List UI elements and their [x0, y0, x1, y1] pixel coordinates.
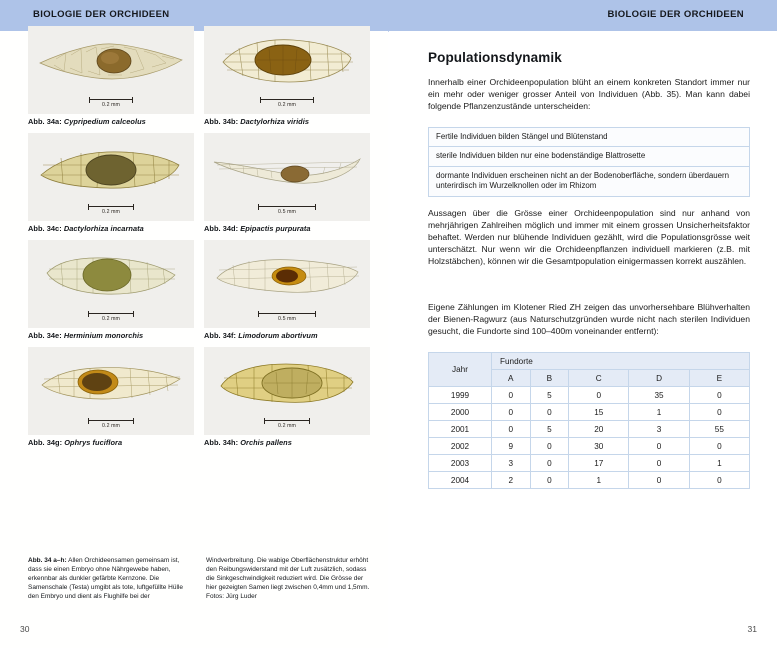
population-counts-table: Jahr Fundorte A B C D E 1999 0 5 0 35 0 …	[428, 352, 750, 489]
figure-species: Ophrys fuciflora	[64, 438, 122, 447]
seed-photo-34d: 0.5 mm	[204, 133, 370, 221]
column-header-jahr: Jahr	[429, 353, 492, 387]
figure-grid: 0.2 mm Abb. 34a: Cypripedium calceolus	[28, 26, 370, 454]
cell-year: 2002	[429, 438, 492, 455]
cell-year: 2001	[429, 421, 492, 438]
figure-caption-34f: Abb. 34f: Limodorum abortivum	[204, 331, 370, 340]
figure-label: Abb. 34c:	[28, 224, 62, 233]
figure-caption-34e: Abb. 34e: Herminium monorchis	[28, 331, 194, 340]
page-number-right: 31	[748, 624, 757, 634]
cell-value: 0	[492, 387, 531, 404]
seed-photo-34e: 0.2 mm	[28, 240, 194, 328]
running-header-left: BIOLOGIE DER ORCHIDEEN	[33, 9, 170, 20]
page-number-left: 30	[20, 624, 29, 634]
figure-label: Abb. 34d:	[204, 224, 238, 233]
right-page	[389, 31, 777, 648]
cell-value: 1	[689, 455, 749, 472]
seed-illustration	[37, 141, 185, 195]
figure-item-34a: 0.2 mm Abb. 34a: Cypripedium calceolus	[28, 26, 194, 126]
state-row-fertile: Fertile Individuen bilden Stängel und Bl…	[429, 128, 750, 147]
figure-species: Herminium monorchis	[64, 331, 143, 340]
figure-label: Abb. 34a:	[28, 117, 62, 126]
seed-photo-34h: 0.2 mm	[204, 347, 370, 435]
table-row: 2003 3 0 17 0 1	[429, 455, 750, 472]
table-row: 1999 0 5 0 35 0	[429, 387, 750, 404]
figure-caption-34b: Abb. 34b: Dactylorhiza viridis	[204, 117, 370, 126]
scale-bar-34d: 0.5 mm	[258, 204, 316, 216]
figure-item-34e: 0.2 mm Abb. 34e: Herminium monorchis	[28, 240, 194, 340]
seed-illustration	[217, 32, 357, 90]
cell-value: 0	[629, 455, 689, 472]
cell-value: 20	[569, 421, 629, 438]
cell-value: 0	[689, 472, 749, 489]
cell-value: 0	[530, 472, 569, 489]
intro-paragraph: Innerhalb einer Orchideenpopulation blüh…	[428, 76, 750, 112]
cell-value: 0	[492, 404, 531, 421]
cell-value: 1	[569, 472, 629, 489]
cell-value: 0	[569, 387, 629, 404]
seed-illustration	[38, 357, 184, 407]
cell-value: 0	[689, 404, 749, 421]
seed-illustration	[211, 143, 363, 193]
cell-value: 0	[689, 438, 749, 455]
figure-item-34h: 0.2 mm Abb. 34h: Orchis pallens	[204, 347, 370, 447]
column-header-e: E	[689, 370, 749, 387]
table-row: Fertile Individuen bilden Stängel und Bl…	[429, 128, 750, 147]
cell-year: 2000	[429, 404, 492, 421]
figure-item-34d: 0.5 mm Abb. 34d: Epipactis purpurata	[204, 133, 370, 233]
scale-bar-34c: 0.2 mm	[88, 204, 134, 216]
column-header-a: A	[492, 370, 531, 387]
seed-illustration	[216, 356, 358, 408]
cell-value: 0	[629, 438, 689, 455]
cell-value: 0	[689, 387, 749, 404]
figure-label: Abb. 34f:	[204, 331, 236, 340]
figure-group-caption-col1: Abb. 34 a–h: Allen Orchideensamen gemein…	[28, 556, 194, 601]
column-header-d: D	[629, 370, 689, 387]
running-header-right: BIOLOGIE DER ORCHIDEEN	[608, 9, 745, 20]
scale-bar-34f: 0.5 mm	[258, 311, 316, 323]
table-row: 2000 0 0 15 1 0	[429, 404, 750, 421]
table-row: 2002 9 0 30 0 0	[429, 438, 750, 455]
cell-year: 1999	[429, 387, 492, 404]
scale-bar-34h: 0.2 mm	[264, 418, 310, 430]
cell-value: 5	[530, 421, 569, 438]
seed-illustration	[36, 35, 186, 87]
figure-item-34b: 0.2 mm Abb. 34b: Dactylorhiza viridis	[204, 26, 370, 126]
cell-value: 0	[530, 438, 569, 455]
column-header-fundorte: Fundorte	[492, 353, 750, 370]
cell-year: 2003	[429, 455, 492, 472]
table-header-row-1: Jahr Fundorte	[429, 353, 750, 370]
table-row: sterile Individuen bilden nur eine boden…	[429, 147, 750, 166]
figure-caption-34c: Abb. 34c: Dactylorhiza incarnata	[28, 224, 194, 233]
figure-label: Abb. 34h:	[204, 438, 238, 447]
section-title: Populationsdynamik	[428, 50, 562, 65]
scale-bar-34a: 0.2 mm	[89, 97, 133, 109]
cell-value: 3	[629, 421, 689, 438]
cell-value: 35	[629, 387, 689, 404]
figure-caption-34d: Abb. 34d: Epipactis purpurata	[204, 224, 370, 233]
seed-photo-34b: 0.2 mm	[204, 26, 370, 114]
figure-caption-34g: Abb. 34g: Ophrys fuciflora	[28, 438, 194, 447]
figure-item-34c: 0.2 mm Abb. 34c: Dactylorhiza incarnata	[28, 133, 194, 233]
figure-species: Epipactis purpurata	[240, 224, 310, 233]
figure-species: Limodorum abortivum	[238, 331, 317, 340]
table-row: 2001 0 5 20 3 55	[429, 421, 750, 438]
cell-value: 9	[492, 438, 531, 455]
figure-caption-34a: Abb. 34a: Cypripedium calceolus	[28, 117, 194, 126]
column-header-c: C	[569, 370, 629, 387]
body-paragraph: Aussagen über die Grösse einer Orchideen…	[428, 207, 750, 267]
figure-species: Dactylorhiza incarnata	[64, 224, 144, 233]
plant-states-table: Fertile Individuen bilden Stängel und Bl…	[428, 127, 750, 197]
figure-caption-34h: Abb. 34h: Orchis pallens	[204, 438, 370, 447]
scale-bar-34b: 0.2 mm	[260, 97, 314, 109]
figure-label: Abb. 34g:	[28, 438, 62, 447]
figure-group-caption-col2: Windverbreitung. Die wabige Oberflächens…	[206, 556, 372, 601]
table-row: dormante Individuen erscheinen nicht an …	[429, 166, 750, 196]
seed-illustration	[213, 252, 361, 298]
table-row: 2004 2 0 1 0 0	[429, 472, 750, 489]
cell-value: 17	[569, 455, 629, 472]
cell-year: 2004	[429, 472, 492, 489]
cell-value: 30	[569, 438, 629, 455]
cell-value: 3	[492, 455, 531, 472]
cell-value: 0	[530, 455, 569, 472]
body-paragraph-2: Eigene Zählungen im Klotener Ried ZH zei…	[428, 301, 750, 337]
figure-label: Abb. 34e:	[28, 331, 62, 340]
cell-value: 0	[492, 421, 531, 438]
cell-value: 2	[492, 472, 531, 489]
scale-bar-34e: 0.2 mm	[88, 311, 134, 323]
cell-value: 15	[569, 404, 629, 421]
figure-item-34f: 0.5 mm Abb. 34f: Limodorum abortivum	[204, 240, 370, 340]
seed-photo-34f: 0.5 mm	[204, 240, 370, 328]
figure-species: Orchis pallens	[240, 438, 292, 447]
scale-bar-34g: 0.2 mm	[88, 418, 134, 430]
figure-group-caption-lead: Abb. 34 a–h:	[28, 557, 67, 564]
seed-photo-34c: 0.2 mm	[28, 133, 194, 221]
column-header-b: B	[530, 370, 569, 387]
seed-illustration	[41, 249, 181, 301]
figure-label: Abb. 34b:	[204, 117, 238, 126]
state-row-sterile: sterile Individuen bilden nur eine boden…	[429, 147, 750, 166]
seed-photo-34g: 0.2 mm	[28, 347, 194, 435]
figure-species: Dactylorhiza viridis	[240, 117, 309, 126]
figure-species: Cypripedium calceolus	[64, 117, 146, 126]
cell-value: 5	[530, 387, 569, 404]
cell-value: 1	[629, 404, 689, 421]
figure-group-caption: Abb. 34 a–h: Allen Orchideensamen gemein…	[28, 556, 373, 601]
state-row-dormant: dormante Individuen erscheinen nicht an …	[429, 166, 750, 196]
cell-value: 55	[689, 421, 749, 438]
cell-value: 0	[629, 472, 689, 489]
figure-item-34g: 0.2 mm Abb. 34g: Ophrys fuciflora	[28, 347, 194, 447]
seed-photo-34a: 0.2 mm	[28, 26, 194, 114]
cell-value: 0	[530, 404, 569, 421]
